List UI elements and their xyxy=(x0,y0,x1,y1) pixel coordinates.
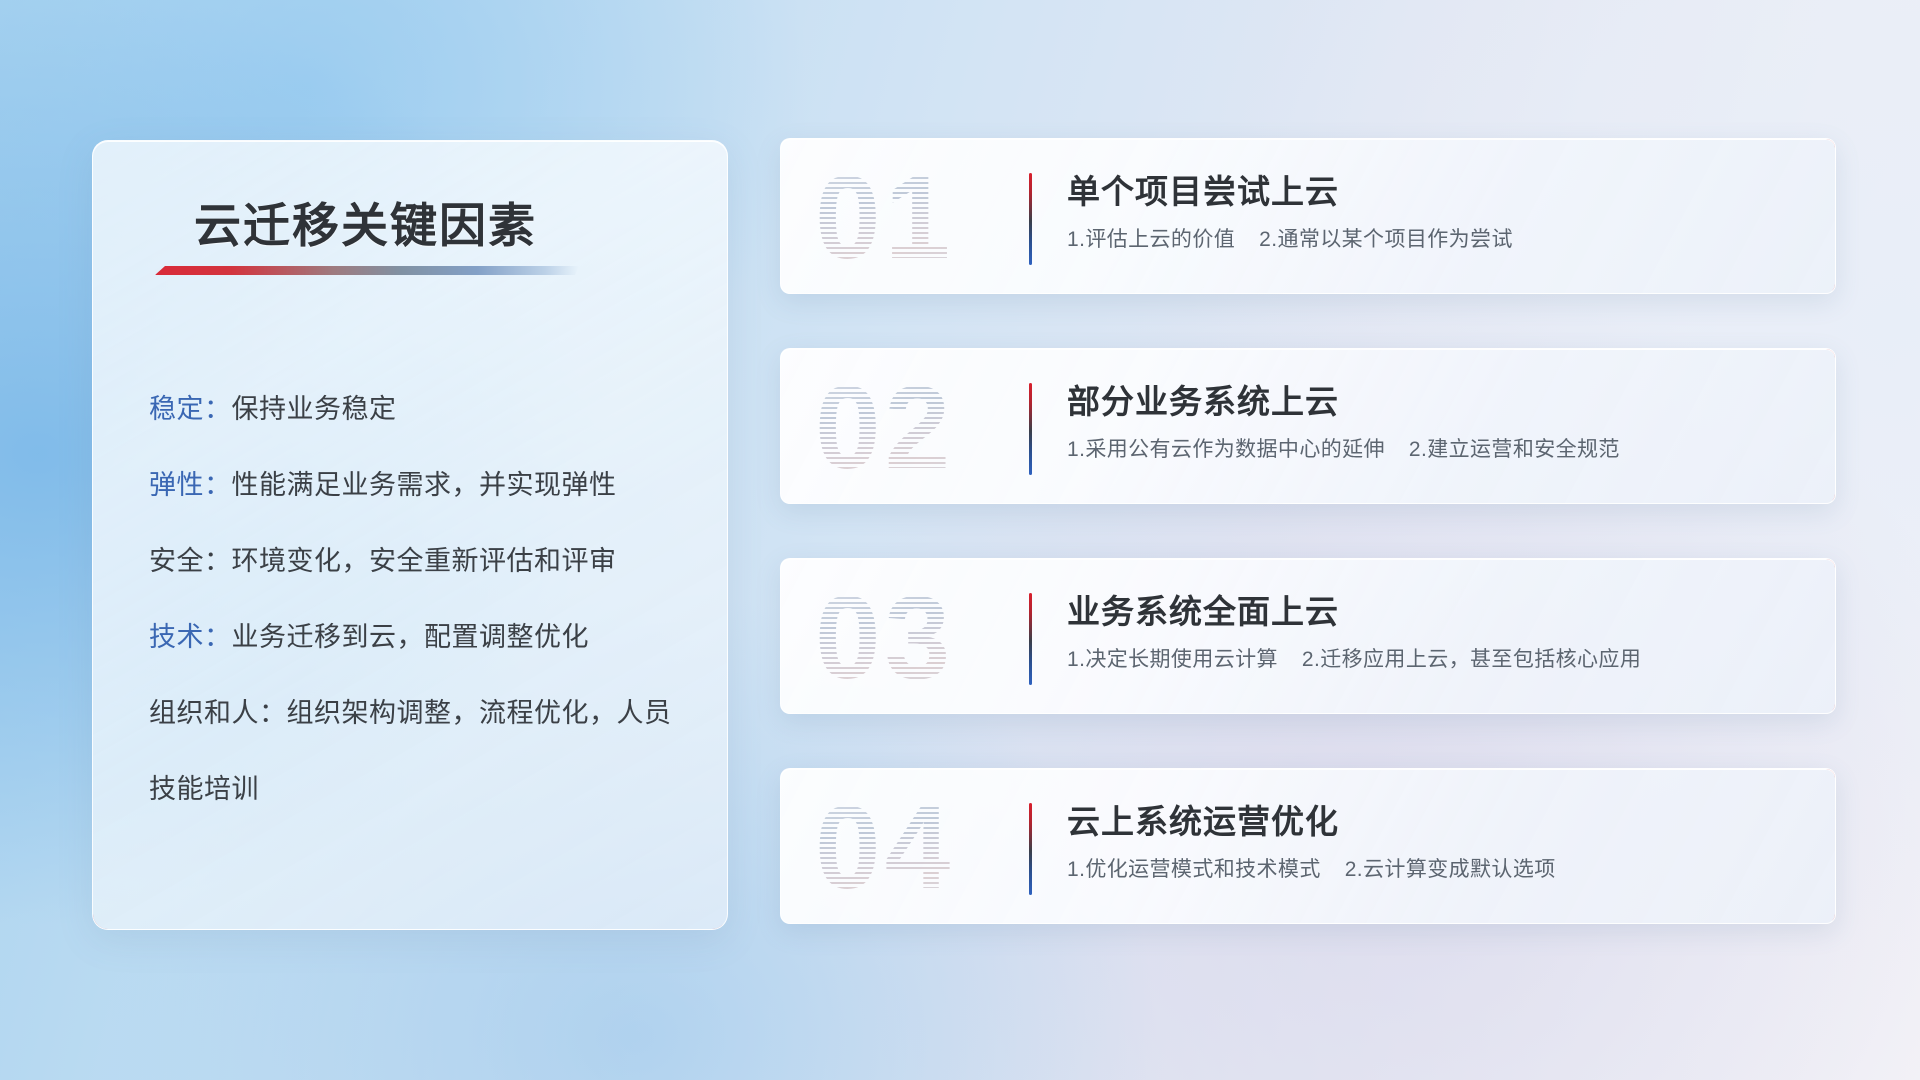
step-accent-bar xyxy=(1029,173,1032,265)
step-point-2: 2.云计算变成默认选项 xyxy=(1345,858,1556,881)
step-subtitle: 1.采用公有云作为数据中心的延伸2.建立运营和安全规范 xyxy=(1067,433,1620,463)
factor-label: 安全： xyxy=(149,546,232,576)
step-card[interactable]: 02 部分业务系统上云 1.采用公有云作为数据中心的延伸2.建立运营和安全规范 xyxy=(780,348,1836,504)
step-number-watermark: 04 xyxy=(815,777,1025,919)
list-item: 稳定：保持业务稳定 xyxy=(149,371,693,447)
factor-value: 保持业务稳定 xyxy=(232,394,397,424)
step-point-1: 1.决定长期使用云计算 xyxy=(1067,648,1278,671)
factor-value: 业务迁移到云，配置调整优化 xyxy=(232,622,590,652)
key-factors-panel: 云迁移关键因素 稳定：保持业务稳定 弹性：性能满足业务需求，并实现弹性 安全：环… xyxy=(92,140,728,930)
factor-value: 环境变化，安全重新评估和评审 xyxy=(232,546,617,576)
step-point-1: 1.评估上云的价值 xyxy=(1067,228,1235,251)
page-title: 云迁移关键因素 xyxy=(194,187,537,256)
step-subtitle: 1.决定长期使用云计算2.迁移应用上云，甚至包括核心应用 xyxy=(1067,643,1641,673)
step-number-watermark: 01 xyxy=(815,147,1025,289)
list-item: 安全：环境变化，安全重新评估和评审 xyxy=(149,523,693,599)
list-item: 技术：业务迁移到云，配置调整优化 xyxy=(149,599,693,675)
factor-value: 性能满足业务需求，并实现弹性 xyxy=(232,470,617,500)
factor-label: 技术： xyxy=(149,622,232,652)
step-title: 部分业务系统上云 xyxy=(1067,375,1339,423)
slide-canvas: 云迁移关键因素 稳定：保持业务稳定 弹性：性能满足业务需求，并实现弹性 安全：环… xyxy=(0,0,1920,1080)
step-accent-bar xyxy=(1029,593,1032,685)
step-number-watermark: 03 xyxy=(815,567,1025,709)
migration-steps-list: 01 单个项目尝试上云 1.评估上云的价值2.通常以某个项目作为尝试 02 部分… xyxy=(780,138,1836,978)
step-title: 云上系统运营优化 xyxy=(1067,795,1339,843)
step-point-1: 1.采用公有云作为数据中心的延伸 xyxy=(1067,438,1385,461)
step-point-2: 2.迁移应用上云，甚至包括核心应用 xyxy=(1302,648,1641,671)
step-number-watermark: 02 xyxy=(815,357,1025,499)
step-accent-bar xyxy=(1029,383,1032,475)
factor-label: 稳定： xyxy=(149,394,232,424)
step-subtitle: 1.评估上云的价值2.通常以某个项目作为尝试 xyxy=(1067,223,1513,253)
step-title: 业务系统全面上云 xyxy=(1067,585,1339,633)
step-card[interactable]: 01 单个项目尝试上云 1.评估上云的价值2.通常以某个项目作为尝试 xyxy=(780,138,1836,294)
step-point-2: 2.建立运营和安全规范 xyxy=(1409,438,1620,461)
key-factors-list: 稳定：保持业务稳定 弹性：性能满足业务需求，并实现弹性 安全：环境变化，安全重新… xyxy=(149,371,693,827)
step-point-1: 1.优化运营模式和技术模式 xyxy=(1067,858,1321,881)
step-subtitle: 1.优化运营模式和技术模式2.云计算变成默认选项 xyxy=(1067,853,1556,883)
step-accent-bar xyxy=(1029,803,1032,895)
step-card[interactable]: 03 业务系统全面上云 1.决定长期使用云计算2.迁移应用上云，甚至包括核心应用 xyxy=(780,558,1836,714)
step-card[interactable]: 04 云上系统运营优化 1.优化运营模式和技术模式2.云计算变成默认选项 xyxy=(780,768,1836,924)
step-title: 单个项目尝试上云 xyxy=(1067,165,1339,213)
list-item: 组织和人：组织架构调整，流程优化，人员技能培训 xyxy=(149,675,693,827)
factor-label: 弹性： xyxy=(149,470,232,500)
list-item: 弹性：性能满足业务需求，并实现弹性 xyxy=(149,447,693,523)
factor-label: 组织和人： xyxy=(149,698,287,728)
title-underline-rule xyxy=(155,266,579,275)
step-point-2: 2.通常以某个项目作为尝试 xyxy=(1259,228,1513,251)
